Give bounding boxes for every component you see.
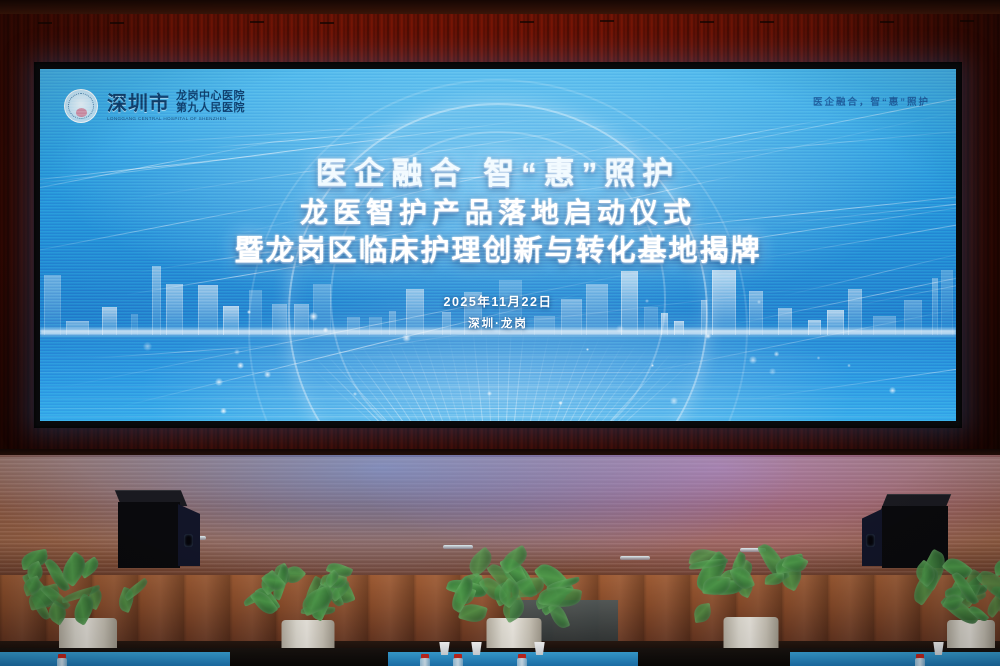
potted-plant <box>248 572 368 660</box>
event-date: 2025年11月22日 <box>40 291 956 310</box>
stage-monitor-speaker-left <box>118 490 206 568</box>
perspective-grid-icon <box>40 329 956 421</box>
potted-plant <box>452 568 576 660</box>
hospital-seal-icon <box>64 89 98 123</box>
logo-english-name: LONGGANG CENTRAL HOSPITAL OF SHENZHEN <box>107 116 245 121</box>
logo-hospital-name-1: 龙岗中心医院 <box>176 91 245 103</box>
floor-marker <box>443 545 473 549</box>
plant-foliage <box>22 558 154 624</box>
potted-plant <box>22 568 154 660</box>
headline-line-3: 暨龙岗区临床护理创新与转化基地揭牌 <box>40 232 956 271</box>
ceiling-shadow <box>0 0 1000 14</box>
plant-leaf <box>692 603 711 623</box>
potted-plant <box>916 572 1000 660</box>
event-headline: 医企融合 智“惠”照护 龙医智护产品落地启动仪式 暨龙岗区临床护理创新与转化基地… <box>40 155 956 271</box>
hospital-logo-text: 深圳市 龙岗中心医院 第九人民医院 LONGGANG CENTRAL HOSPI… <box>107 91 245 121</box>
headline-line-1: 医企融合 智“惠”照护 <box>40 155 956 194</box>
led-screen-frame: 深圳市 龙岗中心医院 第九人民医院 LONGGANG CENTRAL HOSPI… <box>34 62 962 428</box>
table-cloth <box>0 652 230 666</box>
plant-leaf <box>765 573 785 586</box>
logo-city-name: 深圳市 <box>107 94 170 114</box>
event-meta: 2025年11月22日 深圳·龙岗 <box>40 291 956 331</box>
potted-plant <box>688 566 814 660</box>
logo-hospital-name-2: 第九人民医院 <box>176 103 245 115</box>
plant-foliage <box>916 563 1000 626</box>
corner-slogan: 医企融合，智“惠”照护 <box>813 94 930 108</box>
wall-seam-marks <box>0 20 1000 32</box>
plant-foliage <box>248 563 368 626</box>
headline-line-2: 龙医智护产品落地启动仪式 <box>40 194 956 232</box>
plant-foliage <box>688 555 814 623</box>
floor-marker <box>620 556 650 560</box>
hospital-logo: 深圳市 龙岗中心医院 第九人民医院 LONGGANG CENTRAL HOSPI… <box>64 89 245 123</box>
table-cloth <box>790 652 1000 666</box>
led-screen: 深圳市 龙岗中心医院 第九人民医院 LONGGANG CENTRAL HOSPI… <box>40 69 956 421</box>
event-location: 深圳·龙岗 <box>40 315 956 331</box>
stage-scene: 深圳市 龙岗中心医院 第九人民医院 LONGGANG CENTRAL HOSPI… <box>0 0 1000 666</box>
plant-foliage <box>452 558 576 624</box>
